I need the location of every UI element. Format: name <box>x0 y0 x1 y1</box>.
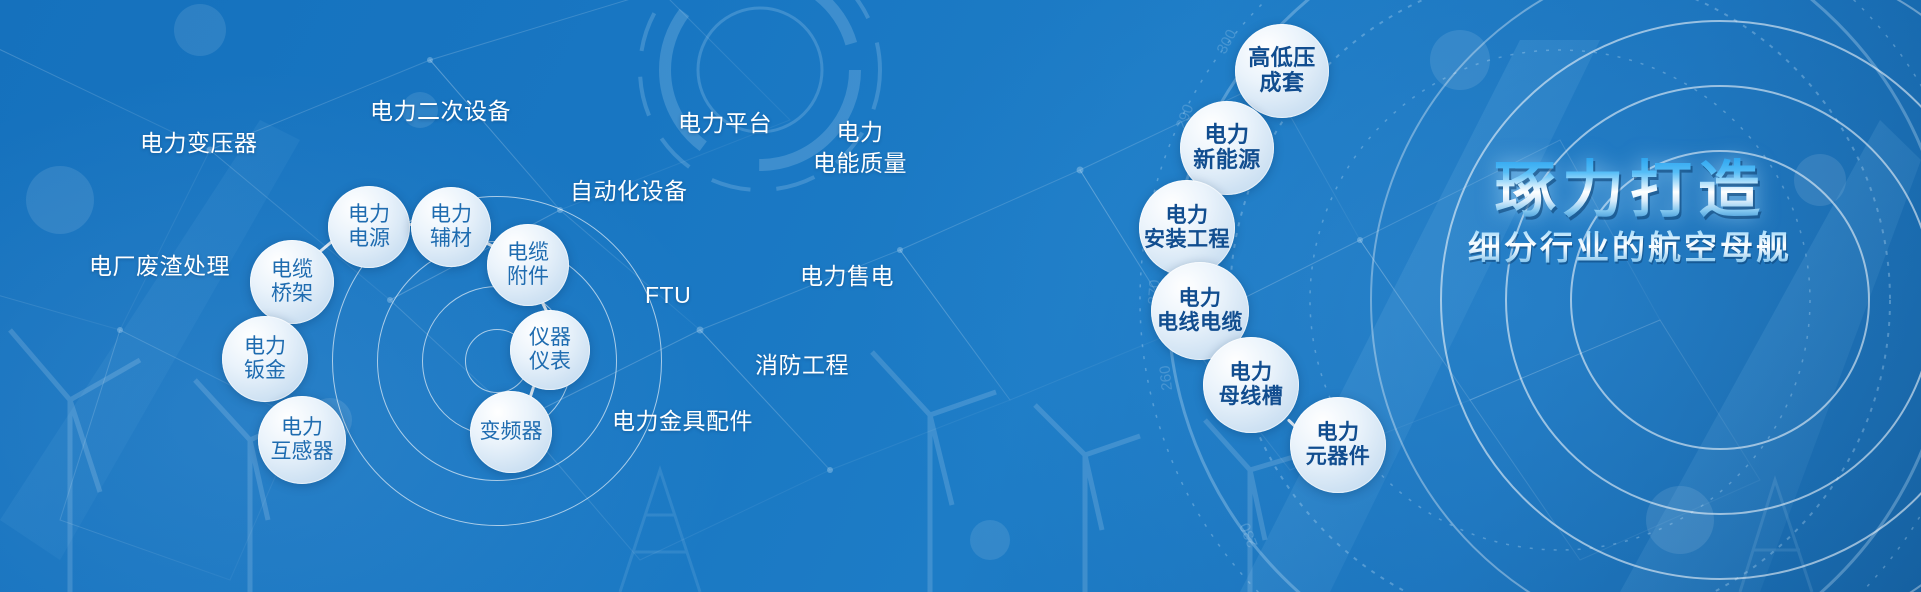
node-power-supply[interactable]: 电力 电源 <box>328 186 410 268</box>
label-power-retail: 电力售电 <box>800 261 980 292</box>
svg-text:230: 230 <box>1237 520 1262 550</box>
node-label: 电力 新能源 <box>1193 123 1261 172</box>
node-label: 仪器 仪表 <box>529 326 571 373</box>
label-power-quality: 电力 电能质量 <box>790 117 930 179</box>
headline-sub: 细分行业的航空母舰 <box>1390 229 1870 267</box>
node-label: 高低压 成套 <box>1248 46 1316 95</box>
svg-text:260: 260 <box>1156 365 1176 392</box>
node-label: 变频器 <box>480 420 543 444</box>
node-label: 电力 电线电缆 <box>1157 287 1243 334</box>
label-hardware-fittings: 电力金具配件 <box>612 406 832 437</box>
node-cable-accessory[interactable]: 电缆 附件 <box>487 224 569 306</box>
node-components[interactable]: 电力 元器件 <box>1290 397 1386 493</box>
headline-rings <box>1350 0 1921 592</box>
node-sheet-metal[interactable]: 电力 钣金 <box>222 316 308 402</box>
node-inverter[interactable]: 变频器 <box>470 391 552 473</box>
node-label: 电力 钣金 <box>244 335 286 382</box>
svg-text:300: 300 <box>1214 27 1241 57</box>
label-ftu: FTU <box>645 280 735 311</box>
banner-stage: 300 290 280 270 260 230 电力 电源 电力 辅材 <box>0 0 1921 592</box>
node-installation[interactable]: 电力 安装工程 <box>1139 180 1235 276</box>
label-fire-engineering: 消防工程 <box>755 350 915 381</box>
node-label: 电力 母线槽 <box>1219 361 1284 408</box>
node-label: 电力 元器件 <box>1306 421 1371 468</box>
headline-block: 琢力打造 细分行业的航空母舰 <box>1390 158 1870 267</box>
node-current-transformer[interactable]: 电力 互感器 <box>258 396 346 484</box>
node-label: 电缆 附件 <box>507 241 549 288</box>
node-busduct[interactable]: 电力 母线槽 <box>1203 337 1299 433</box>
node-label: 电力 安装工程 <box>1144 204 1230 251</box>
node-power-aux[interactable]: 电力 辅材 <box>411 187 491 267</box>
node-label: 电力 电源 <box>348 203 390 250</box>
label-secondary-equipment: 电力二次设备 <box>370 96 590 127</box>
node-instruments[interactable]: 仪器 仪表 <box>510 310 590 390</box>
label-automation: 自动化设备 <box>570 176 770 207</box>
label-waste-treatment: 电厂废渣处理 <box>89 251 309 282</box>
node-switchgear[interactable]: 高低压 成套 <box>1235 24 1329 118</box>
label-transformer: 电力变压器 <box>140 128 320 159</box>
node-label: 电力 辅材 <box>430 203 472 250</box>
node-label: 电力 互感器 <box>271 416 334 463</box>
headline-main: 琢力打造 <box>1390 158 1870 223</box>
